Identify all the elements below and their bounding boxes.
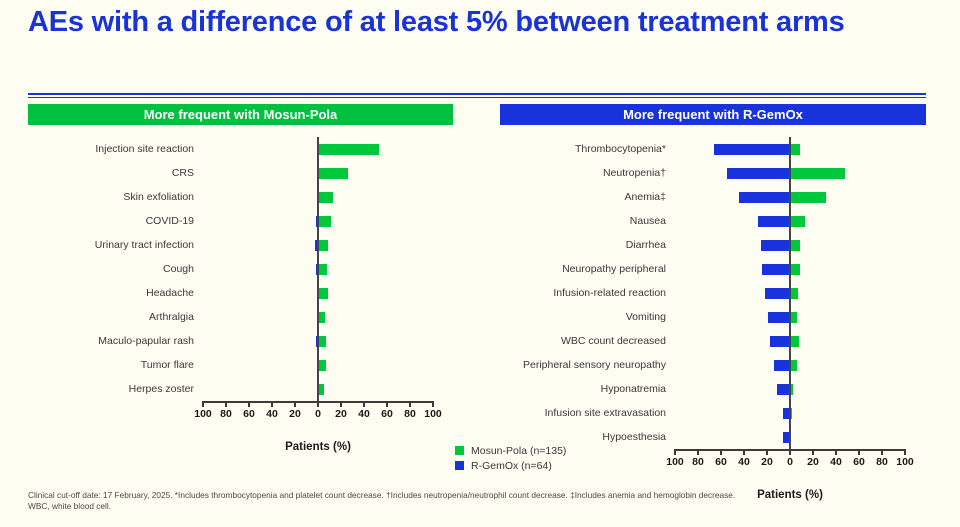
axis-tick-label: 60: [853, 456, 865, 468]
chart-zero-line: [789, 401, 791, 425]
axis-tick-label: 100: [666, 456, 684, 468]
chart-bar: [714, 144, 790, 155]
chart-zero-line: [317, 185, 319, 209]
chart-row: Headache: [28, 281, 453, 305]
chart-bar: [768, 312, 790, 323]
chart-bar: [790, 264, 800, 275]
axis-tick-label: 20: [335, 408, 347, 420]
chart-row-label: Headache: [28, 287, 203, 299]
chart-bar: [318, 288, 328, 299]
axis-tick: [432, 401, 434, 407]
chart-bar: [758, 216, 790, 227]
chart-row: CRS: [28, 161, 453, 185]
chart-zero-line: [789, 353, 791, 377]
chart-zero-line: [789, 281, 791, 305]
chart-row-label: Tumor flare: [28, 359, 203, 371]
chart-bar: [318, 240, 328, 251]
chart-row: Neutropenia†: [500, 161, 926, 185]
slide-root: AEs with a difference of at least 5% bet…: [0, 0, 960, 527]
chart-bar: [739, 192, 790, 203]
chart-row-label: Nausea: [500, 215, 675, 227]
blue-square-icon: [455, 461, 464, 470]
chart-row-label: Arthralgia: [28, 311, 203, 323]
chart-row-label: Neuropathy peripheral: [500, 263, 675, 275]
green-square-icon: [455, 446, 464, 455]
chart-row: Diarrhea: [500, 233, 926, 257]
chart-row-plot: [675, 353, 905, 377]
chart-zero-line: [317, 377, 319, 401]
chart-bar: [318, 168, 348, 179]
chart-row: Infusion-related reaction: [500, 281, 926, 305]
axis-tick-label: 100: [896, 456, 914, 468]
chart-row: Maculo-papular rash: [28, 329, 453, 353]
chart-bar: [790, 360, 797, 371]
footnote-line-2: WBC, white blood cell.: [28, 501, 928, 512]
chart-row-label: Diarrhea: [500, 239, 675, 251]
chart-zero-line: [317, 209, 319, 233]
chart-row: Arthralgia: [28, 305, 453, 329]
axis-tick-label: 80: [876, 456, 888, 468]
chart-zero-line: [317, 329, 319, 353]
chart-right-axis: 10080604020020406080100: [675, 449, 905, 471]
axis-tick-label: 80: [692, 456, 704, 468]
axis-tick: [225, 401, 227, 407]
axis-tick-label: 80: [404, 408, 416, 420]
axis-tick: [835, 449, 837, 455]
legend-item: R-GemOx (n=64): [455, 458, 566, 473]
axis-tick: [409, 401, 411, 407]
chart-row-plot: [203, 353, 433, 377]
axis-tick: [720, 449, 722, 455]
chart-left-header: More frequent with Mosun-Pola: [28, 104, 453, 125]
chart-zero-line: [317, 137, 319, 161]
axis-tick: [248, 401, 250, 407]
axis-tick-label: 40: [830, 456, 842, 468]
legend-item: Mosun-Pola (n=135): [455, 443, 566, 458]
chart-zero-line: [789, 185, 791, 209]
chart-bar: [790, 288, 798, 299]
chart-bar: [318, 384, 324, 395]
chart-row-label: Neutropenia†: [500, 167, 675, 179]
chart-bar: [790, 240, 800, 251]
chart-row: Injection site reaction: [28, 137, 453, 161]
chart-row-label: Maculo-papular rash: [28, 335, 203, 347]
chart-bar: [762, 264, 790, 275]
axis-tick: [697, 449, 699, 455]
chart-row-plot: [675, 281, 905, 305]
axis-tick: [317, 401, 319, 407]
chart-bar: [790, 168, 845, 179]
axis-tick: [202, 401, 204, 407]
chart-zero-line: [789, 377, 791, 401]
chart-row-plot: [203, 257, 433, 281]
chart-row-plot: [203, 377, 433, 401]
chart-row-plot: [203, 233, 433, 257]
chart-row-plot: [675, 185, 905, 209]
axis-tick: [904, 449, 906, 455]
chart-zero-line: [789, 161, 791, 185]
chart-zero-line: [789, 425, 791, 449]
footnote: Clinical cut-off date: 17 February, 2025…: [28, 490, 928, 512]
chart-row: Vomiting: [500, 305, 926, 329]
chart-right-rows: Thrombocytopenia*Neutropenia†Anemia‡Naus…: [500, 137, 926, 449]
axis-tick: [743, 449, 745, 455]
chart-row-plot: [675, 425, 905, 449]
chart-zero-line: [317, 281, 319, 305]
chart-row-plot: [203, 185, 433, 209]
chart-row-plot: [675, 377, 905, 401]
chart-row-plot: [675, 257, 905, 281]
chart-bar: [318, 336, 326, 347]
legend-label: R-GemOx (n=64): [471, 460, 552, 472]
chart-bar: [318, 216, 331, 227]
chart-row-label: Hyponatremia: [500, 383, 675, 395]
chart-bar: [777, 384, 790, 395]
chart-row-plot: [675, 401, 905, 425]
chart-row-label: Injection site reaction: [28, 143, 203, 155]
axis-tick-label: 20: [761, 456, 773, 468]
chart-row: Nausea: [500, 209, 926, 233]
chart-row: Urinary tract infection: [28, 233, 453, 257]
chart-row-plot: [675, 209, 905, 233]
axis-tick: [674, 449, 676, 455]
chart-zero-line: [789, 233, 791, 257]
axis-tick-label: 20: [807, 456, 819, 468]
chart-bar: [318, 312, 325, 323]
chart-panel-left: More frequent with Mosun-Pola Injection …: [28, 104, 453, 453]
chart-zero-line: [317, 353, 319, 377]
chart-row: Hyponatremia: [500, 377, 926, 401]
chart-right-header: More frequent with R-GemOx: [500, 104, 926, 125]
chart-zero-line: [789, 137, 791, 161]
chart-row: Thrombocytopenia*: [500, 137, 926, 161]
chart-bar: [790, 312, 797, 323]
chart-zero-line: [789, 257, 791, 281]
chart-bar: [318, 264, 327, 275]
chart-row-label: CRS: [28, 167, 203, 179]
axis-tick-label: 40: [358, 408, 370, 420]
chart-row: Neuropathy peripheral: [500, 257, 926, 281]
chart-row-plot: [203, 209, 433, 233]
axis-tick-label: 80: [220, 408, 232, 420]
axis-tick: [340, 401, 342, 407]
chart-row: Infusion site extravasation: [500, 401, 926, 425]
axis-tick-label: 0: [315, 408, 321, 420]
chart-bar: [765, 288, 790, 299]
chart-zero-line: [789, 329, 791, 353]
chart-bar: [774, 360, 790, 371]
axis-tick-label: 40: [266, 408, 278, 420]
axis-tick-label: 100: [424, 408, 442, 420]
axis-tick: [789, 449, 791, 455]
axis-tick: [812, 449, 814, 455]
chart-row: Herpes zoster: [28, 377, 453, 401]
axis-tick: [363, 401, 365, 407]
chart-bar: [318, 144, 379, 155]
chart-row-plot: [675, 137, 905, 161]
chart-row-plot: [675, 329, 905, 353]
chart-row: Peripheral sensory neuropathy: [500, 353, 926, 377]
chart-row-label: Anemia‡: [500, 191, 675, 203]
chart-bar: [318, 192, 333, 203]
chart-zero-line: [317, 257, 319, 281]
chart-bar: [790, 192, 826, 203]
chart-zero-line: [789, 209, 791, 233]
axis-tick-label: 40: [738, 456, 750, 468]
axis-tick-label: 60: [715, 456, 727, 468]
axis-tick-label: 20: [289, 408, 301, 420]
axis-tick-label: 0: [787, 456, 793, 468]
chart-row-label: COVID-19: [28, 215, 203, 227]
chart-row-plot: [675, 305, 905, 329]
chart-left-rows: Injection site reactionCRSSkin exfoliati…: [28, 137, 453, 401]
chart-left-axis: 10080604020020406080100: [203, 401, 433, 423]
chart-bar: [318, 360, 326, 371]
chart-row-label: Infusion-related reaction: [500, 287, 675, 299]
chart-row: Skin exfoliation: [28, 185, 453, 209]
page-title: AEs with a difference of at least 5% bet…: [28, 6, 908, 39]
chart-bar: [770, 336, 790, 347]
chart-bar: [790, 216, 805, 227]
chart-row-label: Thrombocytopenia*: [500, 143, 675, 155]
chart-row-label: Peripheral sensory neuropathy: [500, 359, 675, 371]
chart-row: Cough: [28, 257, 453, 281]
chart-legend: Mosun-Pola (n=135)R-GemOx (n=64): [455, 443, 566, 473]
chart-left-axis-title: Patients (%): [203, 441, 433, 453]
legend-label: Mosun-Pola (n=135): [471, 445, 566, 457]
chart-zero-line: [317, 233, 319, 257]
chart-bar: [761, 240, 790, 251]
chart-row-label: Infusion site extravasation: [500, 407, 675, 419]
chart-row-label: WBC count decreased: [500, 335, 675, 347]
axis-tick-label: 60: [243, 408, 255, 420]
chart-zero-line: [789, 305, 791, 329]
chart-bar: [790, 336, 799, 347]
chart-row-label: Herpes zoster: [28, 383, 203, 395]
axis-tick: [386, 401, 388, 407]
axis-tick: [766, 449, 768, 455]
chart-row-plot: [675, 233, 905, 257]
chart-row-plot: [203, 329, 433, 353]
chart-left-plot: Injection site reactionCRSSkin exfoliati…: [28, 137, 453, 453]
axis-tick: [858, 449, 860, 455]
chart-row-label: Hypoesthesia: [500, 431, 675, 443]
chart-panel-right: More frequent with R-GemOx Thrombocytope…: [500, 104, 926, 501]
chart-row-plot: [203, 281, 433, 305]
axis-tick: [294, 401, 296, 407]
chart-bar: [790, 144, 800, 155]
chart-row: COVID-19: [28, 209, 453, 233]
chart-row-plot: [203, 137, 433, 161]
chart-row: WBC count decreased: [500, 329, 926, 353]
chart-row-label: Vomiting: [500, 311, 675, 323]
axis-tick-label: 60: [381, 408, 393, 420]
footnote-line-1: Clinical cut-off date: 17 February, 2025…: [28, 490, 928, 501]
axis-tick: [881, 449, 883, 455]
axis-tick: [271, 401, 273, 407]
chart-row: Anemia‡: [500, 185, 926, 209]
chart-row-label: Cough: [28, 263, 203, 275]
title-divider-thin: [28, 97, 926, 98]
axis-tick-label: 100: [194, 408, 212, 420]
chart-zero-line: [317, 305, 319, 329]
chart-row-plot: [203, 161, 433, 185]
chart-row-plot: [675, 161, 905, 185]
chart-row-plot: [203, 305, 433, 329]
title-divider-thick: [28, 93, 926, 95]
chart-zero-line: [317, 161, 319, 185]
chart-row: Tumor flare: [28, 353, 453, 377]
chart-bar: [727, 168, 790, 179]
chart-row-label: Skin exfoliation: [28, 191, 203, 203]
chart-row-label: Urinary tract infection: [28, 239, 203, 251]
